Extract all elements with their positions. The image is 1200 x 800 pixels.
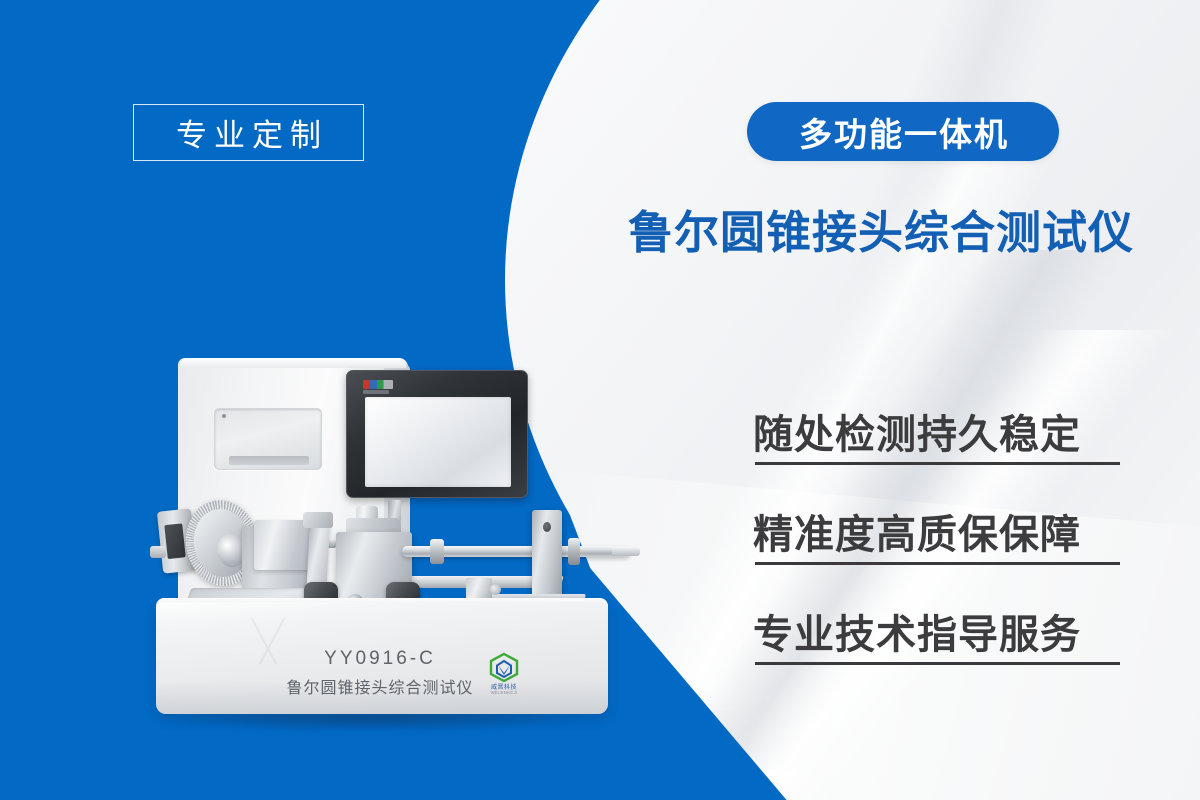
shaft-end-tip	[612, 547, 640, 556]
feature-list: 随处检测持久稳定 精准度高质保保障 专业技术指导服务	[753, 400, 1125, 700]
custom-service-badge: 专业定制	[133, 104, 364, 161]
banner-canvas: 专业定制 多功能一体机 鲁尔圆锥接头综合测试仪 随处检测持久稳定 精准度高质保保…	[0, 0, 1200, 800]
access-panel	[214, 408, 322, 470]
feature-item-3: 专业技术指导服务	[753, 600, 1125, 700]
product-model-code: YY0916-C	[240, 648, 520, 670]
brand-logo: 威晋科技 WEIJINKEJI	[482, 652, 526, 698]
shaft-collar-left	[430, 539, 444, 564]
feature-divider-1	[755, 462, 1120, 465]
feature-label-3: 专业技术指导服务	[753, 602, 1081, 660]
feature-divider-2	[755, 562, 1120, 565]
rotary-dial-arm-insert	[164, 523, 185, 559]
hmi-brand-logo-icon	[363, 380, 393, 389]
multifunction-pill-badge: 多功能一体机	[747, 102, 1059, 161]
feature-label-1: 随处检测持久稳定	[753, 402, 1081, 460]
feature-item-1: 随处检测持久稳定	[753, 400, 1125, 500]
rotary-dial-knob-stem	[150, 546, 166, 558]
l-bracket-hole	[543, 522, 551, 532]
brand-logo-name-en: WEIJINKEJI	[482, 690, 526, 695]
instrument-cabinet-top-edge	[180, 358, 406, 368]
left-clamp-head	[303, 512, 333, 528]
panel-screw-dot	[222, 414, 226, 418]
feature-label-2: 精准度高质保保障	[753, 502, 1081, 560]
page-title: 鲁尔圆锥接头综合测试仪	[628, 196, 1184, 261]
custom-service-badge-label: 专业定制	[169, 110, 328, 155]
shaft-collar-right	[568, 538, 580, 565]
touchscreen-display[interactable]	[346, 370, 528, 498]
touchscreen-screen-area[interactable]	[365, 397, 511, 487]
multifunction-pill-label: 多功能一体机	[797, 108, 1009, 156]
feature-divider-3	[755, 662, 1120, 665]
hmi-brand-text-icon	[363, 390, 389, 394]
slider-block-pin	[490, 584, 501, 595]
feature-item-2: 精准度高质保保障	[753, 500, 1125, 600]
product-photo: YY0916-C 鲁尔圆锥接头综合测试仪 威晋科技 WEIJINKEJI	[150, 350, 670, 770]
brand-hexagon-icon	[482, 652, 526, 682]
